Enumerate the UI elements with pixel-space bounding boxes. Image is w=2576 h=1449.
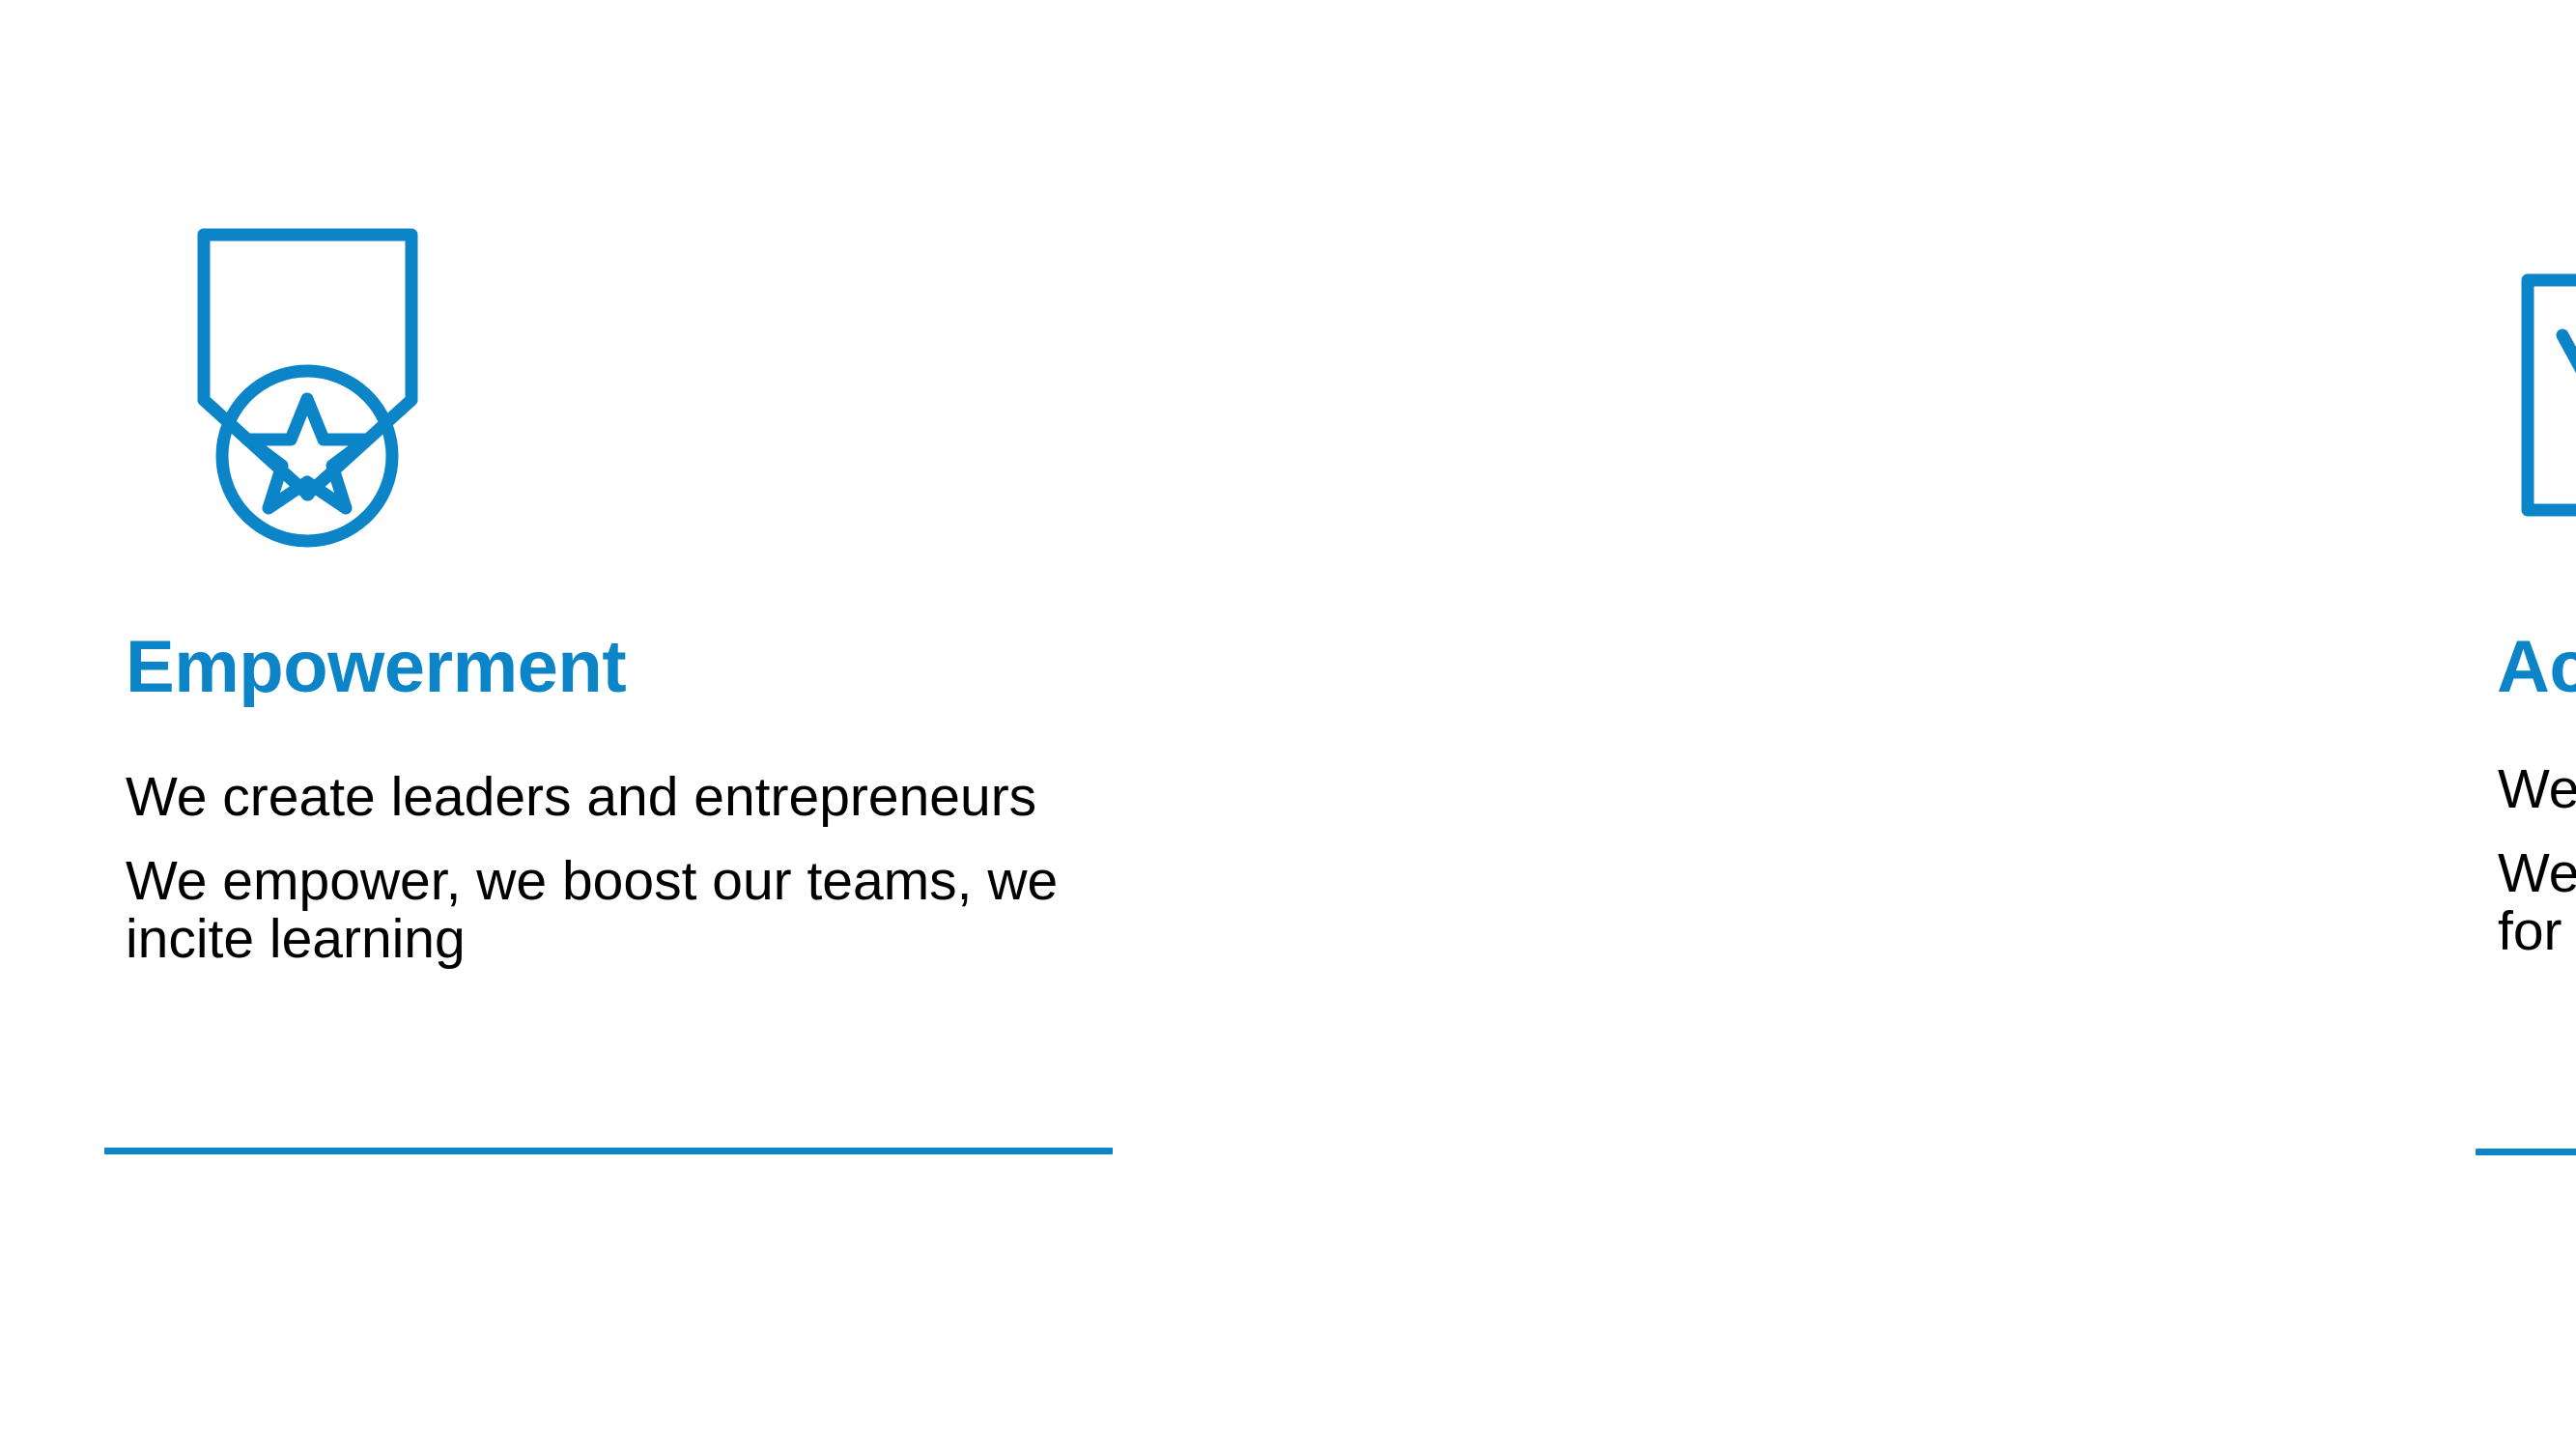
checkbox-check-icon [2487,232,2576,541]
column-heading-empowerment: Empowerment [126,626,626,709]
column-divider-empowerment [104,1148,1113,1154]
body-paragraph: We own everything we do with courage [2498,761,2576,818]
column-body-empowerment: We create leaders and entrepreneurs We e… [126,769,1101,968]
column-heading-accountability: Accountability [2497,626,2576,709]
values-slide: Empowerment We create leaders and entrep… [0,0,2576,1449]
medal-star-icon [169,208,459,575]
column-body-accountability: We own everything we do with courage We … [2498,761,2576,960]
body-paragraph: We seize responsibilities, we are accoun… [2498,845,2576,960]
body-paragraph: We create leaders and entrepreneurs [126,769,1101,826]
column-divider-accountability [2476,1149,2576,1155]
body-paragraph: We empower, we boost our teams, we incit… [126,853,1101,968]
